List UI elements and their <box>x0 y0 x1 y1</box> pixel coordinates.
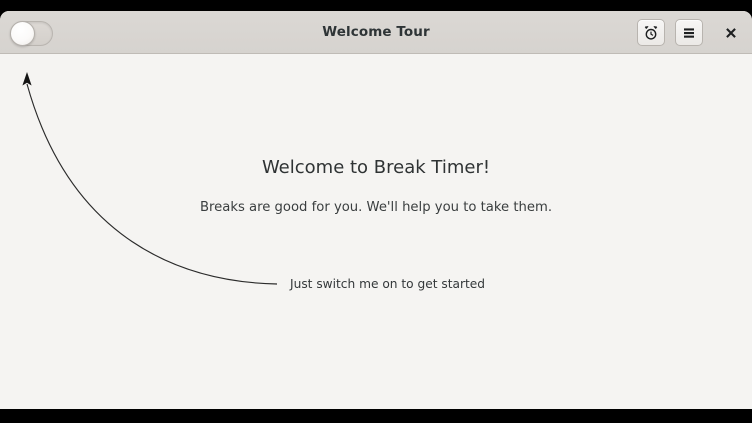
content-area: Welcome to Break Timer! Breaks are good … <box>0 54 752 409</box>
page-title: Welcome to Break Timer! <box>0 157 752 178</box>
annotation-arrow <box>0 54 752 409</box>
timer-button[interactable] <box>637 19 665 46</box>
application-window: Welcome Tour <box>0 11 752 409</box>
header-bar: Welcome Tour <box>0 11 752 54</box>
screen: Welcome Tour <box>0 0 752 423</box>
close-button[interactable] <box>718 19 744 46</box>
menu-button[interactable] <box>675 19 703 46</box>
annotation-label: Just switch me on to get started <box>290 277 485 291</box>
page-subtitle: Breaks are good for you. We'll help you … <box>0 200 752 215</box>
